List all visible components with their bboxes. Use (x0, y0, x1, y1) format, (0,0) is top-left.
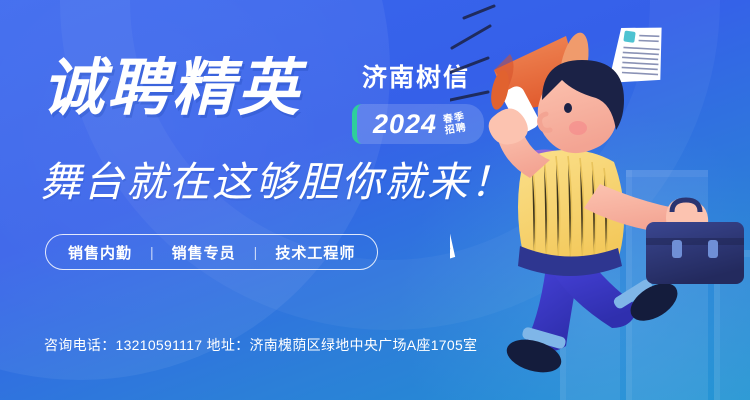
resume-document (450, 205, 456, 270)
banner-headline: 诚聘精英 (42, 58, 302, 120)
position-separator: | (254, 244, 258, 260)
banner-subheadline: 舞台就在这够胆你就来！ (40, 158, 513, 206)
recruitment-banner: 诚聘精英 济南树信 2024 春季 招聘 舞台就在这够胆你就来！ 销售内勤 | … (0, 0, 750, 400)
job-position-3[interactable]: 技术工程师 (275, 242, 355, 263)
character-illustration (450, 0, 750, 400)
character-head (538, 60, 624, 153)
position-separator: | (150, 244, 154, 260)
job-positions-pill: 销售内勤 | 销售专员 | 技术工程师 (45, 234, 378, 270)
badge-year-label: 2024 (373, 109, 437, 140)
contact-info: 咨询电话：13210591117 地址：济南槐荫区绿地中央广场A座1705室 (44, 336, 477, 354)
job-position-2[interactable]: 销售专员 (172, 242, 236, 263)
motion-lines (450, 6, 494, 100)
job-position-1[interactable]: 销售内勤 (68, 242, 132, 263)
